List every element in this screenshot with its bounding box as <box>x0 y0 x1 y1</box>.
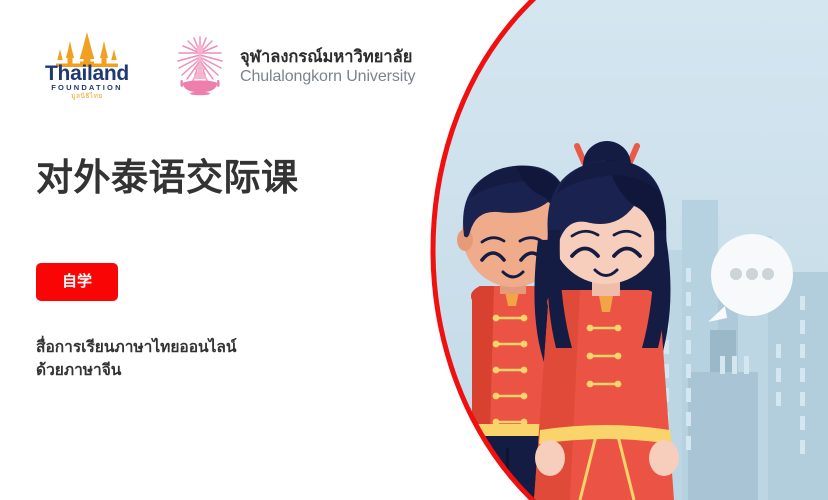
bubble-dot-1 <box>730 268 742 280</box>
course-illustration <box>420 0 828 500</box>
chulalongkorn-crown-emblem <box>174 35 226 99</box>
course-banner-card: Thailand FOUNDATION มูลนิธิไทย <box>0 0 828 500</box>
university-name-block: จุฬาลงกรณ์มหาวิทยาลัย Chulalongkorn Univ… <box>240 47 415 87</box>
university-name-thai: จุฬาลงกรณ์มหาวิทยาลัย <box>240 47 415 67</box>
course-subtitle-line-2: ด้วยภาษาจีน <box>36 362 121 379</box>
illustration-scene <box>420 0 828 500</box>
course-title: 对外泰语交际课 <box>36 158 299 199</box>
bubble-dot-2 <box>746 268 758 280</box>
course-subtitle-line-1: สื่อการเรียนภาษาไทยออนไลน์ <box>36 339 237 356</box>
thailand-foundation-wordmark: Thailand <box>36 63 138 84</box>
thailand-foundation-logo[interactable]: Thailand FOUNDATION มูลนิธิไทย <box>36 31 138 103</box>
course-subtitle: สื่อการเรียนภาษาไทยออนไลน์ ด้วยภาษาจีน <box>36 336 326 383</box>
university-name-english: Chulalongkorn University <box>240 67 415 87</box>
left-content-panel: Thailand FOUNDATION มูลนิธิไทย <box>0 0 440 500</box>
learning-mode-badge[interactable]: 自学 <box>36 263 118 301</box>
chulalongkorn-university-logo[interactable]: จุฬาลงกรณ์มหาวิทยาลัย Chulalongkorn Univ… <box>174 35 415 99</box>
students-illustration-svg <box>420 0 828 500</box>
girl-character <box>534 141 679 500</box>
bubble-dot-3 <box>762 268 774 280</box>
thailand-foundation-subtitle: FOUNDATION <box>36 84 138 92</box>
thailand-foundation-thai-subtitle: มูลนิธิไทย <box>36 94 138 101</box>
partner-logos-row: Thailand FOUNDATION มูลนิธิไทย <box>36 28 415 106</box>
